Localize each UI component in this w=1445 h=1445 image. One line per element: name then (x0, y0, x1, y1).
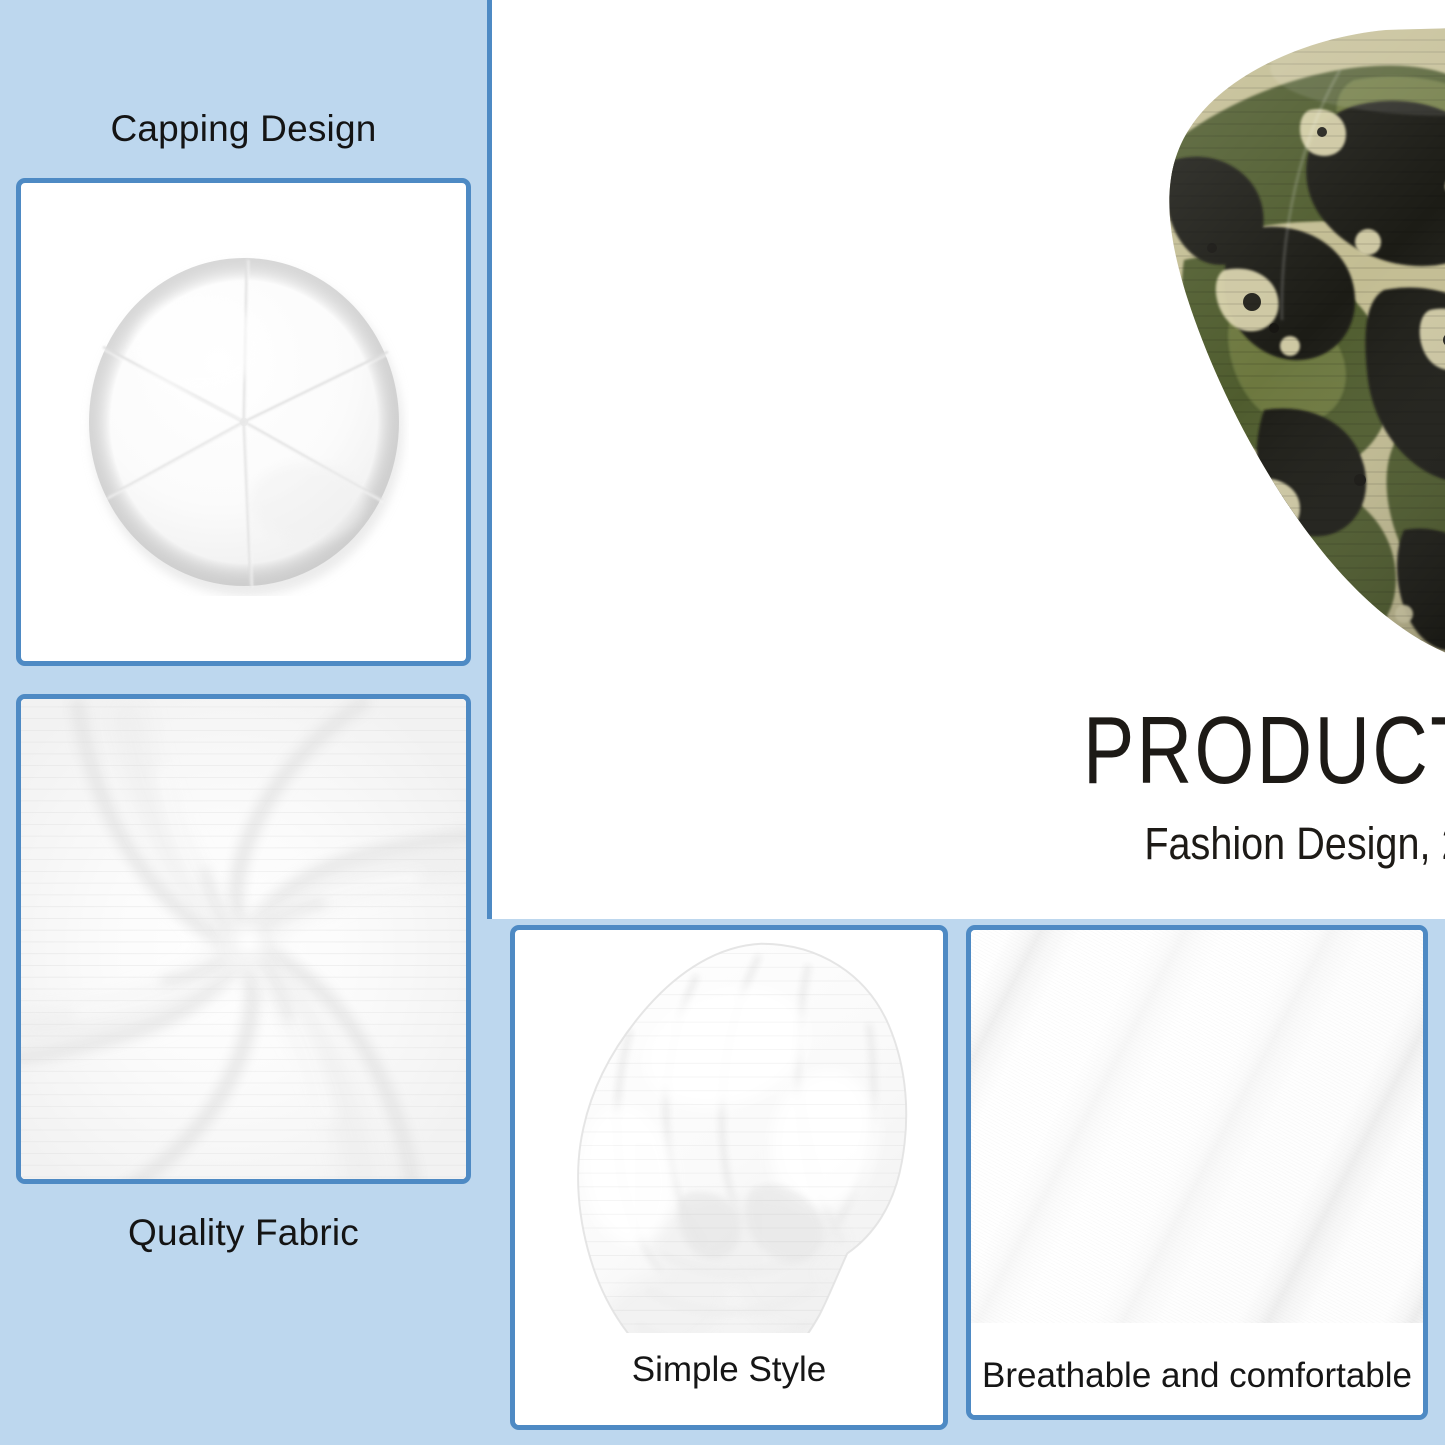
quality-fabric-card (16, 694, 471, 1184)
fabric-swirl-illustration (21, 699, 466, 1179)
quality-fabric-label: Quality Fabric (0, 1212, 487, 1254)
page-title: PRODUCT DETAILS (1075, 700, 1445, 802)
breathable-caption: Breathable and comfortable (971, 1355, 1423, 1397)
camo-beanie-illustration (1104, 10, 1445, 700)
simple-style-caption: Simple Style (515, 1349, 943, 1391)
capping-design-card (16, 178, 471, 666)
simple-style-card: Simple Style (510, 925, 948, 1430)
capping-design-label: Capping Design (0, 108, 487, 150)
white-cap-top-illustration (79, 248, 409, 596)
page-subtitle: Fashion Design, 2 Layers of Design (1036, 818, 1445, 870)
infographic-canvas: Capping Design (0, 0, 1445, 1445)
breathable-card: Breathable and comfortable (966, 925, 1428, 1420)
left-column: Capping Design (0, 0, 487, 1445)
hero-panel: PRODUCT DETAILS Fashion Design, 2 Layers… (487, 0, 1445, 919)
